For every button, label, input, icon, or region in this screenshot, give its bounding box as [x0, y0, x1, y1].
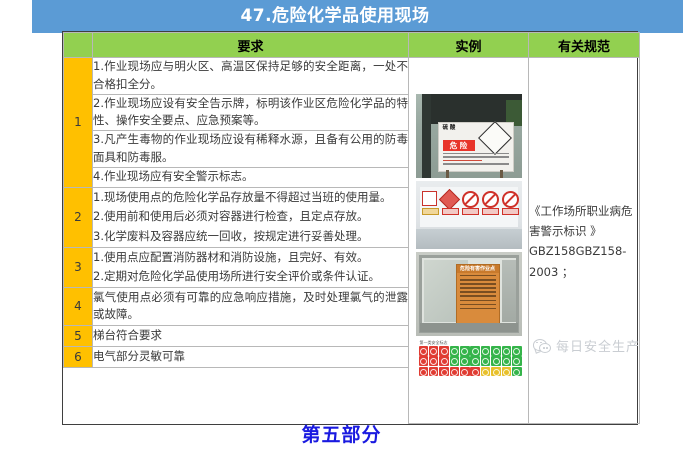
sign-icon: [481, 356, 491, 366]
sign-icon: [439, 367, 449, 377]
sign-icon: [512, 367, 521, 377]
sign-icon: [460, 346, 470, 356]
row-number-6: 6: [64, 346, 93, 367]
page-title: 47.危险化学品使用现场: [32, 0, 638, 33]
requirement-text-1-3: 3.凡产生毒物的作业现场应设有稀释水源，且备有公用的防毒面具和防毒服。: [93, 131, 409, 168]
sign-icon: [450, 356, 460, 366]
photo1-danger-label: 危 险: [443, 140, 475, 151]
photo3-board-title: 危险有害作业点: [457, 265, 499, 273]
photo2-caption-2: [442, 208, 459, 215]
sign-icon: [470, 367, 480, 377]
sign-icon: [419, 346, 429, 356]
watermark-text: 每日安全生产: [556, 336, 640, 355]
sign-icon: [429, 367, 439, 377]
sign-icon: [491, 346, 501, 356]
photo2-sign-row: [422, 191, 519, 208]
sign-icon: [502, 346, 512, 356]
photo2-caption-3: [462, 208, 479, 215]
requirement-text-5-1: 梯台符合要求: [93, 325, 409, 346]
prohibition-signs-row-photo: [416, 181, 522, 249]
requirement-text-2-2: 2.使用前和使用后必须对容器进行检查，且定点存放。: [93, 207, 409, 227]
safety-signage-icon-grid-photo: 第一类安全标志: [416, 339, 522, 387]
requirement-text-3-1: 1.使用点应配置消防器材和消防设施，且完好、有效。: [93, 247, 409, 267]
photo4-icon-grid: [419, 346, 522, 376]
column-header-number: [64, 33, 93, 58]
row-number-2: 2: [64, 187, 93, 247]
requirements-table-wrapper: 要求 实例 有关规范 1 1.作业现场应与明火区、高温区保持足够的安全距离，一处…: [62, 31, 638, 425]
requirement-text-4-1: 氯气使用点必须有可靠的应急响应措施，及时处理氯气的泄露或故障。: [93, 287, 409, 325]
sign-icon: [460, 356, 470, 366]
requirement-text-1-1: 1.作业现场应与明火区、高温区保持足够的安全距离，一处不合格扣全分。: [93, 58, 409, 95]
wechat-logo-icon: [533, 339, 551, 353]
sign-icon: [450, 346, 460, 356]
sign-icon: [439, 346, 449, 356]
sign-icon: [450, 367, 460, 377]
photo2-floor: [416, 229, 522, 249]
photo3-sill: [420, 323, 518, 332]
requirements-table: 要求 实例 有关规范 1 1.作业现场应与明火区、高温区保持足够的安全距离，一处…: [63, 32, 640, 424]
sign-icon: [512, 346, 521, 356]
photo1-leg-left: [446, 170, 449, 178]
row-number-1: 1: [64, 58, 93, 188]
standard-reference-cell: 《工作场所职业病危害警示标识 》GBZ158GBZ158-2003 ；: [529, 58, 640, 424]
sign-icon: [470, 346, 480, 356]
footer-section-label: 第五部分: [0, 420, 683, 447]
sign-icon: [439, 356, 449, 366]
sign-icon: [429, 346, 439, 356]
standard-reference-text: 《工作场所职业病危害警示标识 》GBZ158GBZ158-2003 ；: [529, 201, 639, 282]
column-header-requirement: 要求: [93, 33, 409, 58]
photo2-no-entry-icon: [482, 191, 499, 208]
examples-cell: 硫 酸 危 险: [409, 58, 529, 424]
photo1-chemical-name: 硫 酸: [443, 125, 456, 132]
row-number-5: 5: [64, 325, 93, 346]
photo3-board-lines: [457, 273, 499, 314]
row-number-4: 4: [64, 287, 93, 325]
photo2-caption-5: [502, 208, 519, 215]
page-title-bar: 47.危险化学品使用现场: [32, 0, 683, 33]
photo1-pole: [422, 94, 431, 178]
sign-icon: [502, 367, 512, 377]
photo2-no-smoking-icon: [462, 191, 479, 208]
photo3-hazard-board: 危险有害作业点: [456, 264, 500, 324]
table-row: 1 1.作业现场应与明火区、高温区保持足够的安全距离，一处不合格扣全分。 硫 酸…: [64, 58, 640, 95]
sign-icon: [491, 356, 501, 366]
photo2-no-open-flame-icon: [502, 191, 519, 208]
photo2-warning-square-icon: [422, 191, 437, 206]
sign-icon: [491, 367, 501, 377]
sign-icon: [512, 356, 521, 366]
sulfuric-acid-warning-board-photo: 硫 酸 危 险: [416, 94, 522, 178]
photo2-caption-4: [482, 208, 499, 215]
examples-stack: 硫 酸 危 险: [409, 91, 528, 390]
sign-icon: [502, 356, 512, 366]
sign-icon: [419, 356, 429, 366]
table-header-row: 要求 实例 有关规范: [64, 33, 640, 58]
requirement-text-2-3: 3.化学废料及容器应统一回收，按规定进行妥善处理。: [93, 227, 409, 247]
column-header-example: 实例: [409, 33, 529, 58]
row-number-3: 3: [64, 247, 93, 287]
sign-icon: [419, 367, 429, 377]
photo1-leg-right: [500, 170, 503, 178]
hazard-point-orange-board-photo: 危险有害作业点: [416, 252, 522, 336]
photo1-sign-board: 硫 酸 危 险: [438, 122, 514, 172]
sign-icon: [470, 356, 480, 366]
requirement-text-1-4: 4.作业现场应有安全警示标志。: [93, 167, 409, 187]
requirement-text-2-1: 1.现场使用点的危险化学品存放量不得超过当班的使用量。: [93, 187, 409, 207]
column-header-standard: 有关规范: [529, 33, 640, 58]
photo1-detail-lines: [443, 153, 509, 167]
sign-icon: [460, 367, 470, 377]
requirement-text-3-2: 2.定期对危险化学品使用场所进行安全评价或条件认证。: [93, 267, 409, 287]
photo2-hazard-diamond-icon: [438, 189, 459, 210]
requirement-text-1-2: 2.作业现场应设有安全告示牌，标明该作业区危险化学品的特性、操作安全要点、应急预…: [93, 94, 409, 131]
spacer-requirement: [93, 367, 409, 423]
photo2-caption-row: [422, 208, 519, 215]
spacer-number: [64, 367, 93, 423]
sign-icon: [481, 346, 491, 356]
photo1-hazard-diamond-icon: [478, 121, 512, 155]
photo3-door-edge: [502, 260, 516, 322]
sign-icon: [481, 367, 491, 377]
watermark: 每日安全生产: [533, 336, 640, 355]
requirement-text-6-1: 电气部分灵敏可靠: [93, 346, 409, 367]
sign-icon: [429, 356, 439, 366]
photo2-caption-1: [422, 208, 439, 215]
